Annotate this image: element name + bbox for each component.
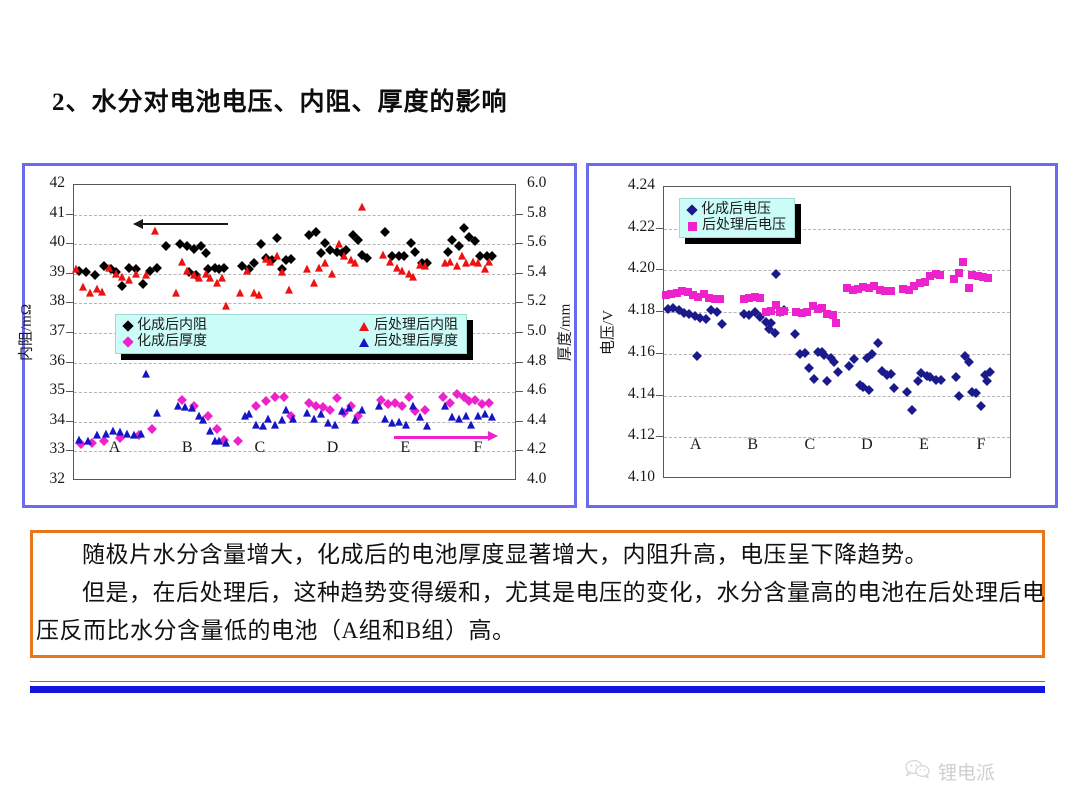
y-axis-tick-label: 35 xyxy=(21,381,65,399)
data-point xyxy=(864,385,874,395)
y-axis-tick-label: 40 xyxy=(21,233,65,251)
y2-axis-tick-label: 4.4 xyxy=(527,411,567,429)
page-title: 2、水分对电池电压、内阻、厚度的影响 xyxy=(52,82,508,118)
y-axis-tick-label: 4.24 xyxy=(611,176,655,194)
data-point xyxy=(965,284,973,292)
legend-marker-diamond-icon xyxy=(122,337,133,348)
data-point xyxy=(951,372,961,382)
data-point xyxy=(484,398,494,408)
data-point xyxy=(328,269,336,277)
legend-marker-diamond-icon xyxy=(686,204,697,215)
data-point xyxy=(358,203,366,211)
data-point xyxy=(178,258,186,266)
y-axis-tick-label: 42 xyxy=(21,174,65,192)
data-point xyxy=(421,262,429,270)
data-point xyxy=(303,265,311,273)
data-point xyxy=(331,420,339,428)
data-point xyxy=(375,401,383,409)
x-axis-tick-label: C xyxy=(240,439,280,457)
y2-axis-tick-label: 4.0 xyxy=(527,470,567,488)
data-point xyxy=(132,269,140,277)
data-point xyxy=(829,357,839,367)
gridline xyxy=(74,451,515,452)
data-point xyxy=(285,286,293,294)
y-axis-tick-label: 41 xyxy=(21,204,65,222)
data-point xyxy=(416,413,424,421)
data-point xyxy=(936,271,944,279)
resistance-arrow-head xyxy=(133,219,143,229)
x-axis-tick-label: E xyxy=(904,436,944,454)
data-point xyxy=(411,247,421,257)
data-point xyxy=(453,262,461,270)
x-axis-tick-label: D xyxy=(313,439,353,457)
data-point xyxy=(907,405,917,415)
x-axis-tick-label: B xyxy=(733,436,773,454)
y-axis-title: 内阻/mΩ xyxy=(15,297,36,369)
data-point xyxy=(833,367,843,377)
data-point xyxy=(137,429,145,437)
data-point xyxy=(289,414,297,422)
axis-tick xyxy=(66,302,73,303)
data-point xyxy=(485,258,493,266)
y-axis-tick-label: 4.20 xyxy=(611,259,655,277)
chart-panel-resistance-thickness: 42414039383736353433326.05.85.65.45.25.0… xyxy=(22,163,577,508)
x-axis-tick-label: A xyxy=(676,436,716,454)
axis-tick xyxy=(516,302,523,303)
axis-tick xyxy=(66,243,73,244)
axis-tick xyxy=(66,273,73,274)
data-point xyxy=(206,426,214,434)
data-point xyxy=(147,424,157,434)
data-point xyxy=(971,389,981,399)
legend-marker-square-icon xyxy=(688,222,697,231)
data-point xyxy=(692,351,702,361)
legend-item: 化成后厚度 xyxy=(124,334,207,350)
conclusion-paragraph-1: 随极片水分含量增大，化成后的电池厚度显著增大，内阻升高，电压呈下降趋势。 xyxy=(36,536,1051,574)
axis-tick xyxy=(656,436,663,437)
legend-label: 后处理后电压 xyxy=(702,218,786,234)
data-point xyxy=(72,265,80,273)
x-axis-tick-label: E xyxy=(385,439,425,457)
data-point xyxy=(236,289,244,297)
data-point xyxy=(832,319,840,327)
y-axis-tick-label: 33 xyxy=(21,440,65,458)
data-point xyxy=(804,364,814,374)
data-point xyxy=(423,422,431,430)
x-axis-tick-label: A xyxy=(95,439,135,457)
data-point xyxy=(222,302,230,310)
axis-tick xyxy=(516,273,523,274)
legend-item: 后处理后电压 xyxy=(688,218,786,234)
y-axis-tick-label: 34 xyxy=(21,411,65,429)
data-point xyxy=(261,396,271,406)
data-point xyxy=(222,438,230,446)
data-point xyxy=(488,413,496,421)
axis-tick xyxy=(656,269,663,270)
x-axis-tick-label: D xyxy=(847,436,887,454)
gridline xyxy=(74,215,515,216)
x-axis-tick-label: B xyxy=(167,439,207,457)
axis-tick xyxy=(66,332,73,333)
wechat-icon xyxy=(905,759,931,784)
data-point xyxy=(138,279,148,289)
axis-tick xyxy=(66,450,73,451)
axis-tick xyxy=(656,228,663,229)
axis-tick xyxy=(66,214,73,215)
data-point xyxy=(259,422,267,430)
y2-axis-tick-label: 4.6 xyxy=(527,381,567,399)
resistance-arrow xyxy=(142,223,227,225)
data-point xyxy=(245,410,253,418)
gridline xyxy=(74,392,515,393)
data-point xyxy=(889,383,899,393)
data-point xyxy=(255,290,263,298)
data-point xyxy=(481,265,489,273)
data-point xyxy=(199,416,207,424)
y-axis-tick-label: 32 xyxy=(21,470,65,488)
legend-marker-triangle-icon xyxy=(359,338,369,347)
y2-axis-tick-label: 6.0 xyxy=(527,174,567,192)
y2-axis-tick-label: 5.4 xyxy=(527,263,567,281)
data-point xyxy=(172,289,180,297)
data-point xyxy=(90,270,100,280)
data-point xyxy=(310,278,318,286)
data-point xyxy=(321,259,329,267)
axis-tick xyxy=(516,243,523,244)
data-point xyxy=(409,401,417,409)
gridline xyxy=(664,354,1010,355)
data-point xyxy=(317,410,325,418)
axis-tick xyxy=(516,214,523,215)
axis-tick xyxy=(516,332,523,333)
data-point xyxy=(98,287,106,295)
watermark-text: 锂电派 xyxy=(938,758,995,785)
thickness-arrow xyxy=(394,436,489,439)
axis-tick xyxy=(66,421,73,422)
data-point xyxy=(887,287,895,295)
legend-label: 化成后内阻 xyxy=(137,318,207,334)
axis-tick xyxy=(516,421,523,422)
data-point xyxy=(335,240,343,248)
data-point xyxy=(278,268,286,276)
data-point xyxy=(351,259,359,267)
axis-tick xyxy=(516,362,523,363)
y2-axis-tick-label: 5.6 xyxy=(527,233,567,251)
legend-label: 后处理后内阻 xyxy=(374,318,458,334)
conclusion-paragraph-2: 但是，在后处理后，这种趋势变得缓和，尤其是电压的变化，水分含量高的电池在后处理后… xyxy=(36,574,1051,650)
data-point xyxy=(161,241,171,251)
axis-tick xyxy=(656,311,663,312)
conclusion-text: 随极片水分含量增大，化成后的电池厚度显著增大，内阻升高，电压呈下降趋势。 但是，… xyxy=(36,536,1051,650)
footer-watermark: 锂电派 xyxy=(905,758,995,785)
chart-legend: 化成后电压后处理后电压 xyxy=(679,198,795,238)
data-point xyxy=(332,393,342,403)
data-point xyxy=(282,406,290,414)
legend-label: 化成后厚度 xyxy=(137,334,207,350)
data-point xyxy=(716,295,724,303)
data-point xyxy=(959,258,967,266)
red-underline-rule xyxy=(30,681,1045,682)
y-axis-title: 电压/V xyxy=(597,297,618,369)
data-point xyxy=(467,420,475,428)
thickness-arrow-head xyxy=(488,431,498,441)
axis-tick xyxy=(656,395,663,396)
data-point xyxy=(717,319,727,329)
axis-tick xyxy=(66,362,73,363)
data-point xyxy=(142,370,150,378)
legend-marker-triangle-icon xyxy=(359,322,369,331)
data-point xyxy=(151,226,159,234)
x-axis-tick-label: F xyxy=(458,439,498,457)
data-point xyxy=(273,252,281,260)
data-point xyxy=(251,401,261,411)
data-point xyxy=(790,329,800,339)
gridline xyxy=(74,244,515,245)
x-axis-tick-label: F xyxy=(961,436,1001,454)
y-axis-tick-label: 4.14 xyxy=(611,385,655,403)
data-point xyxy=(409,272,417,280)
data-point xyxy=(325,405,335,415)
data-point xyxy=(84,437,92,445)
legend-label: 后处理后厚度 xyxy=(374,334,458,350)
blue-underline-rule xyxy=(30,686,1045,693)
x-axis-tick-label: C xyxy=(790,436,830,454)
data-point xyxy=(278,416,286,424)
data-point xyxy=(243,266,251,274)
chart-panel-voltage: 4.244.224.204.184.164.144.124.10电压/VABCD… xyxy=(586,163,1058,508)
gridline xyxy=(74,363,515,364)
data-point xyxy=(454,241,464,251)
y-axis-tick-label: 39 xyxy=(21,263,65,281)
data-point xyxy=(756,294,764,302)
y2-axis-tick-label: 5.8 xyxy=(527,204,567,222)
data-point xyxy=(822,376,832,386)
data-point xyxy=(345,404,353,412)
slide-canvas: 2、水分对电池电压、内阻、厚度的影响 424140393837363534333… xyxy=(0,0,1080,810)
legend-item: 化成后内阻 xyxy=(124,318,207,334)
legend-item: 后处理后厚度 xyxy=(359,334,458,350)
y-axis-tick-label: 4.12 xyxy=(611,426,655,444)
data-point xyxy=(936,375,946,385)
data-point xyxy=(153,409,161,417)
data-point xyxy=(402,420,410,428)
data-point xyxy=(381,227,391,237)
data-point xyxy=(984,274,992,282)
legend-label: 化成后电压 xyxy=(701,202,771,218)
y2-axis-tick-label: 4.2 xyxy=(527,440,567,458)
y-axis-tick-label: 4.16 xyxy=(611,343,655,361)
y2-axis-title: 厚度/mm xyxy=(554,297,575,369)
data-point xyxy=(954,391,964,401)
data-point xyxy=(358,406,366,414)
legend-item: 后处理后内阻 xyxy=(359,318,458,334)
data-point xyxy=(701,314,711,324)
y-axis-tick-label: 4.18 xyxy=(611,301,655,319)
axis-tick xyxy=(66,391,73,392)
data-point xyxy=(955,269,963,277)
axis-tick xyxy=(516,450,523,451)
y-axis-tick-label: 4.22 xyxy=(611,218,655,236)
data-point xyxy=(75,435,83,443)
data-point xyxy=(93,431,101,439)
gridline xyxy=(664,437,1010,438)
axis-tick xyxy=(516,391,523,392)
data-point xyxy=(780,307,788,315)
gridline xyxy=(74,303,515,304)
data-point xyxy=(441,401,449,409)
y-axis-tick-label: 4.10 xyxy=(611,468,655,486)
legend-item: 化成后电压 xyxy=(688,202,786,218)
data-point xyxy=(459,223,469,233)
chart-legend: 化成后内阻化成后厚度后处理后内阻后处理后厚度 xyxy=(115,314,467,354)
legend-marker-diamond-icon xyxy=(122,321,133,332)
data-point xyxy=(256,239,266,249)
data-point xyxy=(142,271,150,279)
data-point xyxy=(809,374,819,384)
data-point xyxy=(873,338,883,348)
data-point xyxy=(976,401,986,411)
axis-tick xyxy=(656,353,663,354)
data-point xyxy=(351,416,359,424)
data-point xyxy=(272,233,282,243)
data-point xyxy=(218,274,226,282)
data-point xyxy=(462,411,470,419)
data-point xyxy=(443,247,453,257)
